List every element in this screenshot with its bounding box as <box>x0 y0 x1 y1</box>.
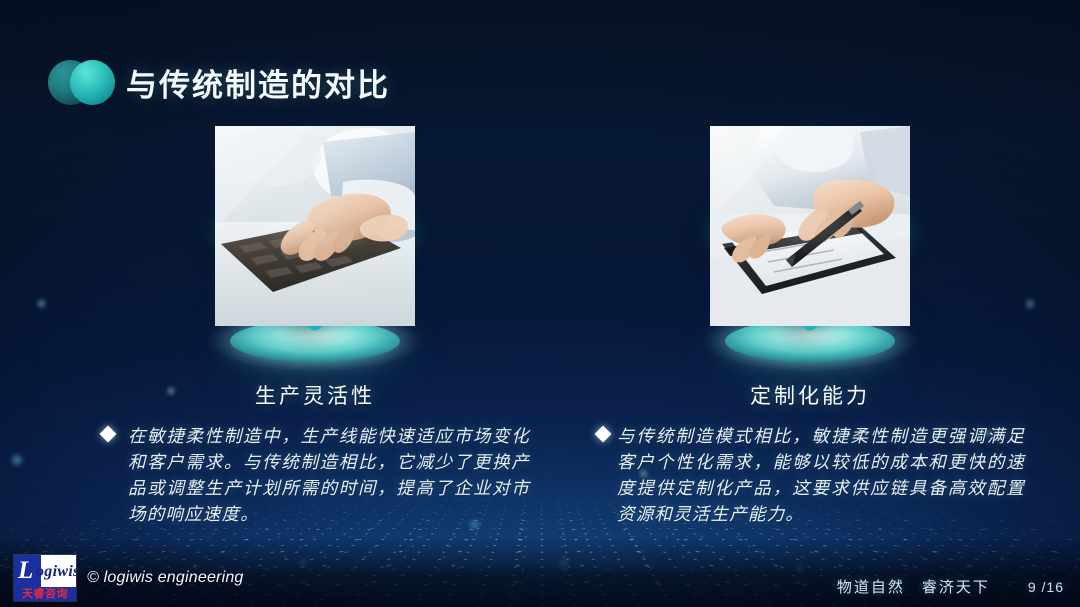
left-column-body-text: 在敏捷柔性制造中，生产线能快速适应市场变化和客户需求。与传统制造相比，它减少了更… <box>128 426 530 524</box>
logiwis-logo-icon: L ogiwis 天睿咨询 <box>14 555 76 601</box>
left-column-heading: 生产灵活性 <box>100 380 530 410</box>
slide-title-row: 与传统制造的对比 <box>48 60 390 110</box>
bullet-diamond-icon <box>595 426 612 443</box>
clipboard-writing-photo <box>710 133 910 326</box>
logo-letter-l: L <box>18 557 33 585</box>
right-diamond-photo <box>710 133 911 334</box>
right-image-stage <box>595 160 1025 378</box>
keyboard-typing-photo <box>215 133 415 326</box>
logo-wordmark: ogiwis <box>36 562 76 582</box>
page-title: 与传统制造的对比 <box>126 70 390 101</box>
bullet-diamond-icon <box>100 426 117 443</box>
page-number: 9 /16 <box>1028 579 1064 595</box>
right-column-body-text: 与传统制造模式相比，敏捷柔性制造更强调满足客户个性化需求，能够以较低的成本和更快… <box>617 426 1025 524</box>
right-column-body: 与传统制造模式相比，敏捷柔性制造更强调满足客户个性化需求，能够以较低的成本和更快… <box>595 423 1025 527</box>
left-column-body: 在敏捷柔性制造中，生产线能快速适应市场变化和客户需求。与传统制造相比，它减少了更… <box>100 423 530 527</box>
column-customization-capability: 定制化能力 与传统制造模式相比，敏捷柔性制造更强调满足客户个性化需求，能够以较低… <box>595 160 1025 527</box>
footer-left-group: L ogiwis 天睿咨询 © logiwis engineering <box>14 555 244 601</box>
left-diamond-photo <box>215 133 416 334</box>
left-image-stage <box>100 160 530 378</box>
footer-tagline: 物道自然 睿济天下 <box>837 576 990 597</box>
copyright-text: © logiwis engineering <box>87 569 244 587</box>
right-column-heading: 定制化能力 <box>595 380 1025 410</box>
right-diamond-frame[interactable] <box>717 133 904 320</box>
title-circle-front-icon <box>70 60 115 105</box>
column-production-flexibility: 生产灵活性 在敏捷柔性制造中，生产线能快速适应市场变化和客户需求。与传统制造相比… <box>100 160 530 527</box>
title-circles-icon <box>48 60 110 110</box>
left-diamond-frame[interactable] <box>222 133 409 320</box>
footer-right-group: 物道自然 睿济天下 9 /16 <box>837 576 1064 597</box>
logo-chinese-name: 天睿咨询 <box>16 587 74 601</box>
slide-canvas: 与传统制造的对比 <box>0 0 1080 607</box>
